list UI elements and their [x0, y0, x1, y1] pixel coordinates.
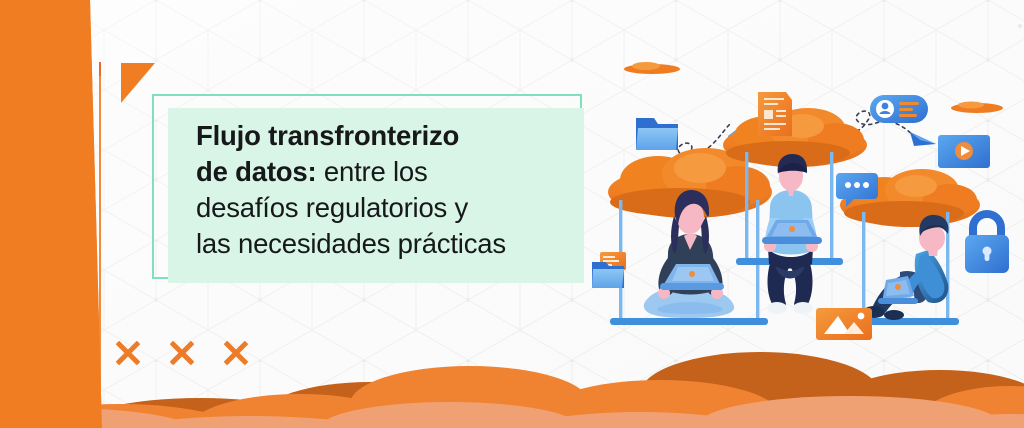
vertical-accent-line-dash — [99, 62, 101, 76]
small-cloud-icon — [951, 102, 1003, 114]
banner-root: Flujo transfronterizo de datos: entre lo… — [0, 0, 1024, 428]
lock-icon — [965, 214, 1009, 273]
title-line-3: desafíos regulatorios y — [196, 192, 468, 223]
title-line-1-bold: Flujo transfronterizo — [196, 120, 459, 151]
folder-card-icon — [592, 252, 626, 288]
folder-icon — [636, 118, 678, 150]
small-cloud-icon — [624, 62, 680, 74]
video-player-icon — [938, 135, 990, 168]
title-line-4: las necesidades prácticas — [196, 228, 506, 259]
title-line-2-rest: entre los — [316, 156, 427, 187]
profile-card-icon — [870, 95, 928, 123]
person-right-reclining — [863, 215, 948, 320]
page-title: Flujo transfronterizo de datos: entre lo… — [196, 118, 576, 262]
send-plane-icon — [910, 132, 936, 146]
bottom-hills — [0, 318, 1024, 428]
title-line-2-bold: de datos: — [196, 156, 316, 187]
corner-dot — [1018, 24, 1022, 28]
left-orange-bar-front — [0, 0, 82, 428]
document-icon — [758, 92, 792, 136]
person-center-sitting-swing — [762, 154, 822, 314]
